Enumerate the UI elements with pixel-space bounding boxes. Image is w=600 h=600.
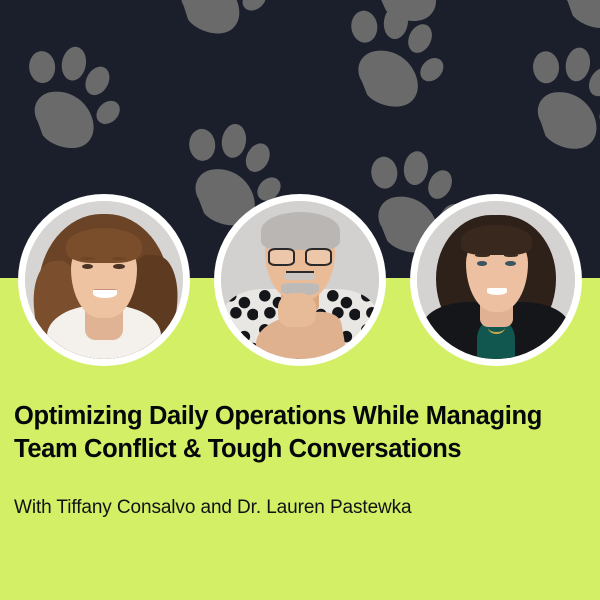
session-presenters: With Tiffany Consalvo and Dr. Lauren Pas… xyxy=(14,466,594,520)
paw-print-icon xyxy=(332,0,458,116)
speaker-avatar-2 xyxy=(214,194,386,366)
avatar-photo xyxy=(25,201,183,359)
avatar-photo xyxy=(221,201,379,359)
speaker-avatar-3 xyxy=(410,194,582,366)
paw-print-icon xyxy=(511,35,600,161)
webinar-promo-card: Optimizing Daily Operations While Managi… xyxy=(0,0,600,600)
paw-print-icon xyxy=(538,0,600,39)
session-title: Optimizing Daily Operations While Managi… xyxy=(14,400,594,466)
speaker-avatar-1 xyxy=(18,194,190,366)
avatar-photo xyxy=(417,201,575,359)
session-text-block: Optimizing Daily Operations While Managi… xyxy=(14,400,594,520)
paw-print-icon xyxy=(153,0,284,46)
paw-print-icon xyxy=(8,35,137,159)
